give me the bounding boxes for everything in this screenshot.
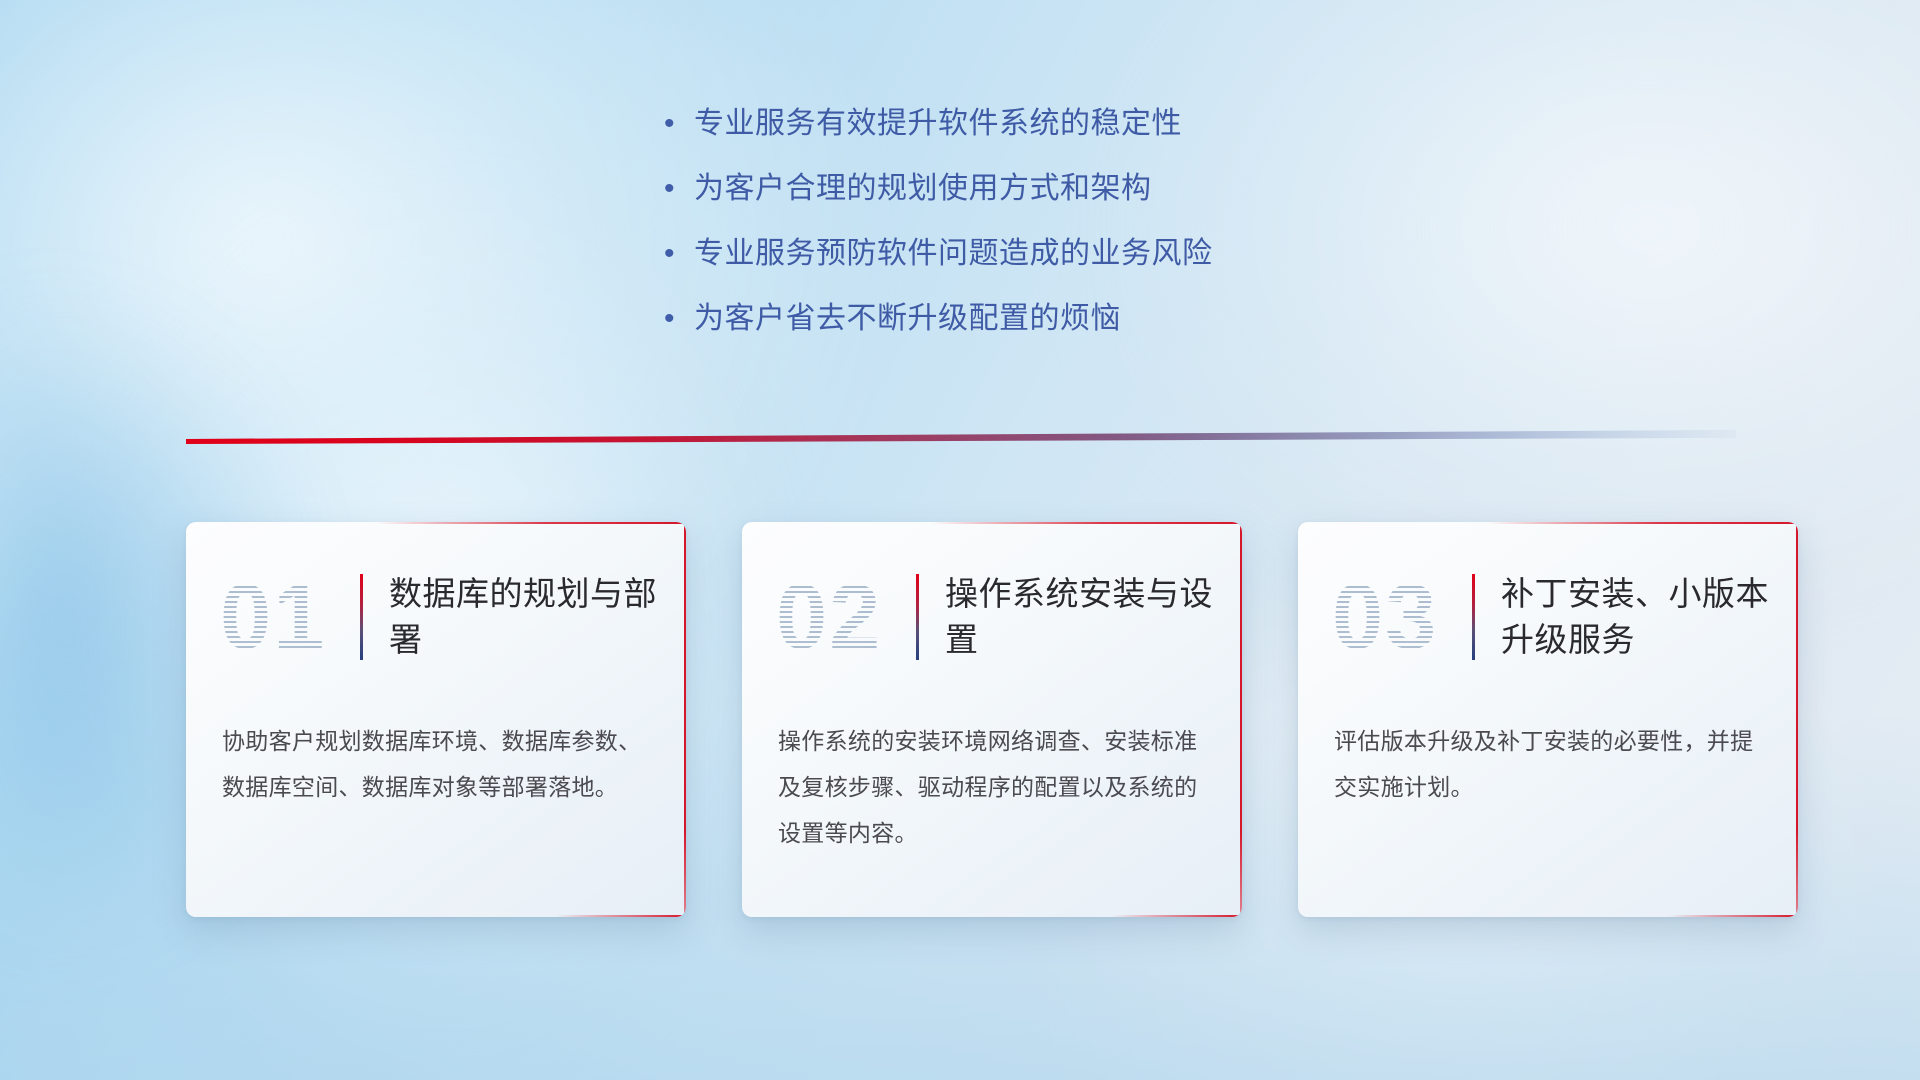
bullet-text: 专业服务预防软件问题造成的业务风险 bbox=[694, 234, 1213, 274]
card-accent-bottom bbox=[1112, 915, 1242, 917]
benefits-bullet-list: • 专业服务有效提升软件系统的稳定性 • 为客户合理的规划使用方式和架构 • 专… bbox=[664, 104, 1484, 364]
divider-highlight bbox=[186, 430, 1736, 444]
service-card-01[interactable]: 01 数据库的规划与部署 协助客户规划数据库环境、数据库参数、数据库空间、数据库… bbox=[186, 522, 686, 917]
card-number: 01 bbox=[220, 571, 356, 663]
list-item: • 为客户省去不断升级配置的烦恼 bbox=[664, 299, 1484, 364]
bullet-dot-icon: • bbox=[664, 299, 694, 339]
bullet-dot-icon: • bbox=[664, 104, 694, 144]
card-accent-bottom bbox=[556, 915, 686, 917]
card-accent-right bbox=[1240, 522, 1242, 917]
service-card-02[interactable]: 02 操作系统安装与设置 操作系统的安装环境网络调查、安装标准及复核步骤、驱动程… bbox=[742, 522, 1242, 917]
card-number: 02 bbox=[776, 571, 912, 663]
bullet-text: 为客户省去不断升级配置的烦恼 bbox=[694, 299, 1121, 339]
card-accent-top bbox=[932, 522, 1242, 524]
card-header: 03 补丁安装、小版本升级服务 bbox=[1298, 522, 1798, 672]
card-number: 03 bbox=[1332, 571, 1468, 663]
bullet-text: 专业服务有效提升软件系统的稳定性 bbox=[694, 104, 1182, 144]
bullet-dot-icon: • bbox=[664, 169, 694, 209]
card-accent-bottom bbox=[1668, 915, 1798, 917]
card-description: 评估版本升级及补丁安装的必要性，并提交实施计划。 bbox=[1298, 672, 1798, 810]
card-divider-rule bbox=[916, 574, 919, 660]
card-title: 数据库的规划与部署 bbox=[389, 571, 686, 663]
list-item: • 专业服务预防软件问题造成的业务风险 bbox=[664, 234, 1484, 299]
card-accent-right bbox=[1796, 522, 1798, 917]
card-description: 操作系统的安装环境网络调查、安装标准及复核步骤、驱动程序的配置以及系统的设置等内… bbox=[742, 672, 1242, 856]
bullet-dot-icon: • bbox=[664, 234, 694, 274]
card-title: 补丁安装、小版本升级服务 bbox=[1501, 571, 1798, 663]
list-item: • 专业服务有效提升软件系统的稳定性 bbox=[664, 104, 1484, 169]
section-divider bbox=[186, 430, 1736, 444]
card-title: 操作系统安装与设置 bbox=[945, 571, 1242, 663]
card-accent-top bbox=[1488, 522, 1798, 524]
card-accent-right bbox=[684, 522, 686, 917]
card-header: 01 数据库的规划与部署 bbox=[186, 522, 686, 672]
list-item: • 为客户合理的规划使用方式和架构 bbox=[664, 169, 1484, 234]
card-divider-rule bbox=[360, 574, 363, 660]
card-divider-rule bbox=[1472, 574, 1475, 660]
service-card-group: 01 数据库的规划与部署 协助客户规划数据库环境、数据库参数、数据库空间、数据库… bbox=[186, 522, 1798, 917]
card-accent-top bbox=[376, 522, 686, 524]
bullet-text: 为客户合理的规划使用方式和架构 bbox=[694, 169, 1152, 209]
card-description: 协助客户规划数据库环境、数据库参数、数据库空间、数据库对象等部署落地。 bbox=[186, 672, 686, 810]
card-header: 02 操作系统安装与设置 bbox=[742, 522, 1242, 672]
service-card-03[interactable]: 03 补丁安装、小版本升级服务 评估版本升级及补丁安装的必要性，并提交实施计划。 bbox=[1298, 522, 1798, 917]
